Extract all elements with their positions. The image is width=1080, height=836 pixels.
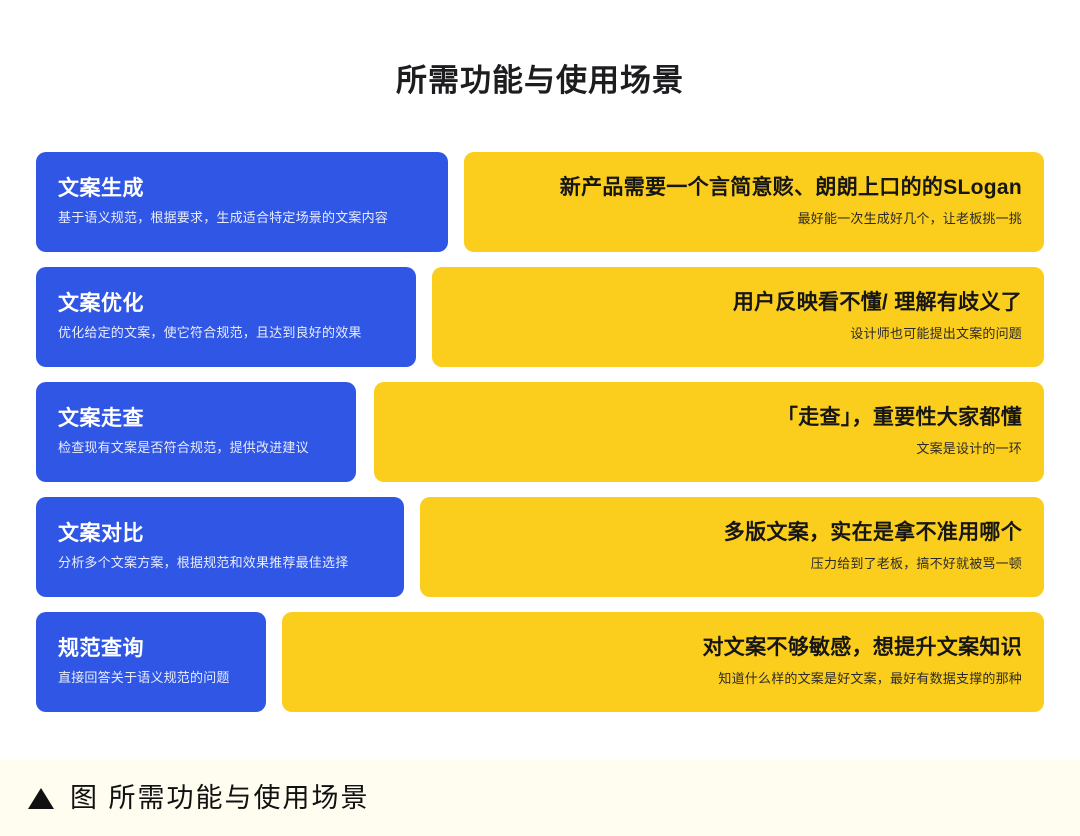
feature-card-title: 文案对比	[58, 520, 382, 547]
scenario-card-title: 多版文案，实在是拿不准用哪个	[442, 519, 1022, 546]
scenario-card[interactable]: 对文案不够敏感，想提升文案知识 知道什么样的文案是好文案，最好有数据支撑的那种	[282, 612, 1044, 712]
scenario-card-subtitle: 知道什么样的文案是好文案，最好有数据支撑的那种	[304, 670, 1022, 688]
grid-row: 规范查询 直接回答关于语义规范的问题 对文案不够敏感，想提升文案知识 知道什么样…	[36, 612, 1044, 712]
feature-card-subtitle: 优化给定的文案，使它符合规范，且达到良好的效果	[58, 324, 394, 342]
feature-card[interactable]: 文案走查 检查现有文案是否符合规范，提供改进建议	[36, 382, 356, 482]
scenario-card-title: 对文案不够敏感，想提升文案知识	[304, 634, 1022, 661]
scenario-card-title: 新产品需要一个言简意赅、朗朗上口的的SLogan	[486, 174, 1022, 201]
up-triangle-icon	[28, 788, 54, 809]
feature-card-title: 规范查询	[58, 635, 244, 662]
feature-card-subtitle: 直接回答关于语义规范的问题	[58, 669, 244, 687]
scenario-card-title: 用户反映看不懂/ 理解有歧义了	[454, 289, 1022, 316]
scenario-card-subtitle: 压力给到了老板，搞不好就被骂一顿	[442, 555, 1022, 573]
feature-card[interactable]: 文案生成 基于语义规范，根据要求，生成适合特定场景的文案内容	[36, 152, 448, 252]
scenario-card-subtitle: 文案是设计的一环	[396, 440, 1022, 458]
scenario-card-subtitle: 设计师也可能提出文案的问题	[454, 325, 1022, 343]
slide-canvas: 所需功能与使用场景 文案生成 基于语义规范，根据要求，生成适合特定场景的文案内容…	[0, 0, 1080, 760]
feature-card[interactable]: 规范查询 直接回答关于语义规范的问题	[36, 612, 266, 712]
page-title: 所需功能与使用场景	[0, 0, 1080, 101]
scenario-card[interactable]: 用户反映看不懂/ 理解有歧义了 设计师也可能提出文案的问题	[432, 267, 1044, 367]
grid-row: 文案对比 分析多个文案方案，根据规范和效果推荐最佳选择 多版文案，实在是拿不准用…	[36, 497, 1044, 597]
feature-card-subtitle: 基于语义规范，根据要求，生成适合特定场景的文案内容	[58, 209, 426, 227]
feature-scenario-grid: 文案生成 基于语义规范，根据要求，生成适合特定场景的文案内容 新产品需要一个言简…	[0, 152, 1080, 727]
feature-card-title: 文案优化	[58, 290, 394, 317]
feature-card[interactable]: 文案对比 分析多个文案方案，根据规范和效果推荐最佳选择	[36, 497, 404, 597]
feature-card-subtitle: 分析多个文案方案，根据规范和效果推荐最佳选择	[58, 554, 382, 572]
figure-caption-bar: 图 所需功能与使用场景	[0, 760, 1080, 836]
figure-caption-text: 图 所需功能与使用场景	[70, 782, 370, 814]
scenario-card[interactable]: 「走查」，重要性大家都懂 文案是设计的一环	[374, 382, 1044, 482]
scenario-card-title: 「走查」，重要性大家都懂	[396, 404, 1022, 431]
scenario-card-subtitle: 最好能一次生成好几个，让老板挑一挑	[486, 210, 1022, 228]
scenario-card[interactable]: 多版文案，实在是拿不准用哪个 压力给到了老板，搞不好就被骂一顿	[420, 497, 1044, 597]
feature-card-title: 文案生成	[58, 175, 426, 202]
grid-row: 文案走查 检查现有文案是否符合规范，提供改进建议 「走查」，重要性大家都懂 文案…	[36, 382, 1044, 482]
feature-card-title: 文案走查	[58, 405, 334, 432]
grid-row: 文案生成 基于语义规范，根据要求，生成适合特定场景的文案内容 新产品需要一个言简…	[36, 152, 1044, 252]
feature-card[interactable]: 文案优化 优化给定的文案，使它符合规范，且达到良好的效果	[36, 267, 416, 367]
feature-card-subtitle: 检查现有文案是否符合规范，提供改进建议	[58, 439, 334, 457]
scenario-card[interactable]: 新产品需要一个言简意赅、朗朗上口的的SLogan 最好能一次生成好几个，让老板挑…	[464, 152, 1044, 252]
grid-row: 文案优化 优化给定的文案，使它符合规范，且达到良好的效果 用户反映看不懂/ 理解…	[36, 267, 1044, 367]
